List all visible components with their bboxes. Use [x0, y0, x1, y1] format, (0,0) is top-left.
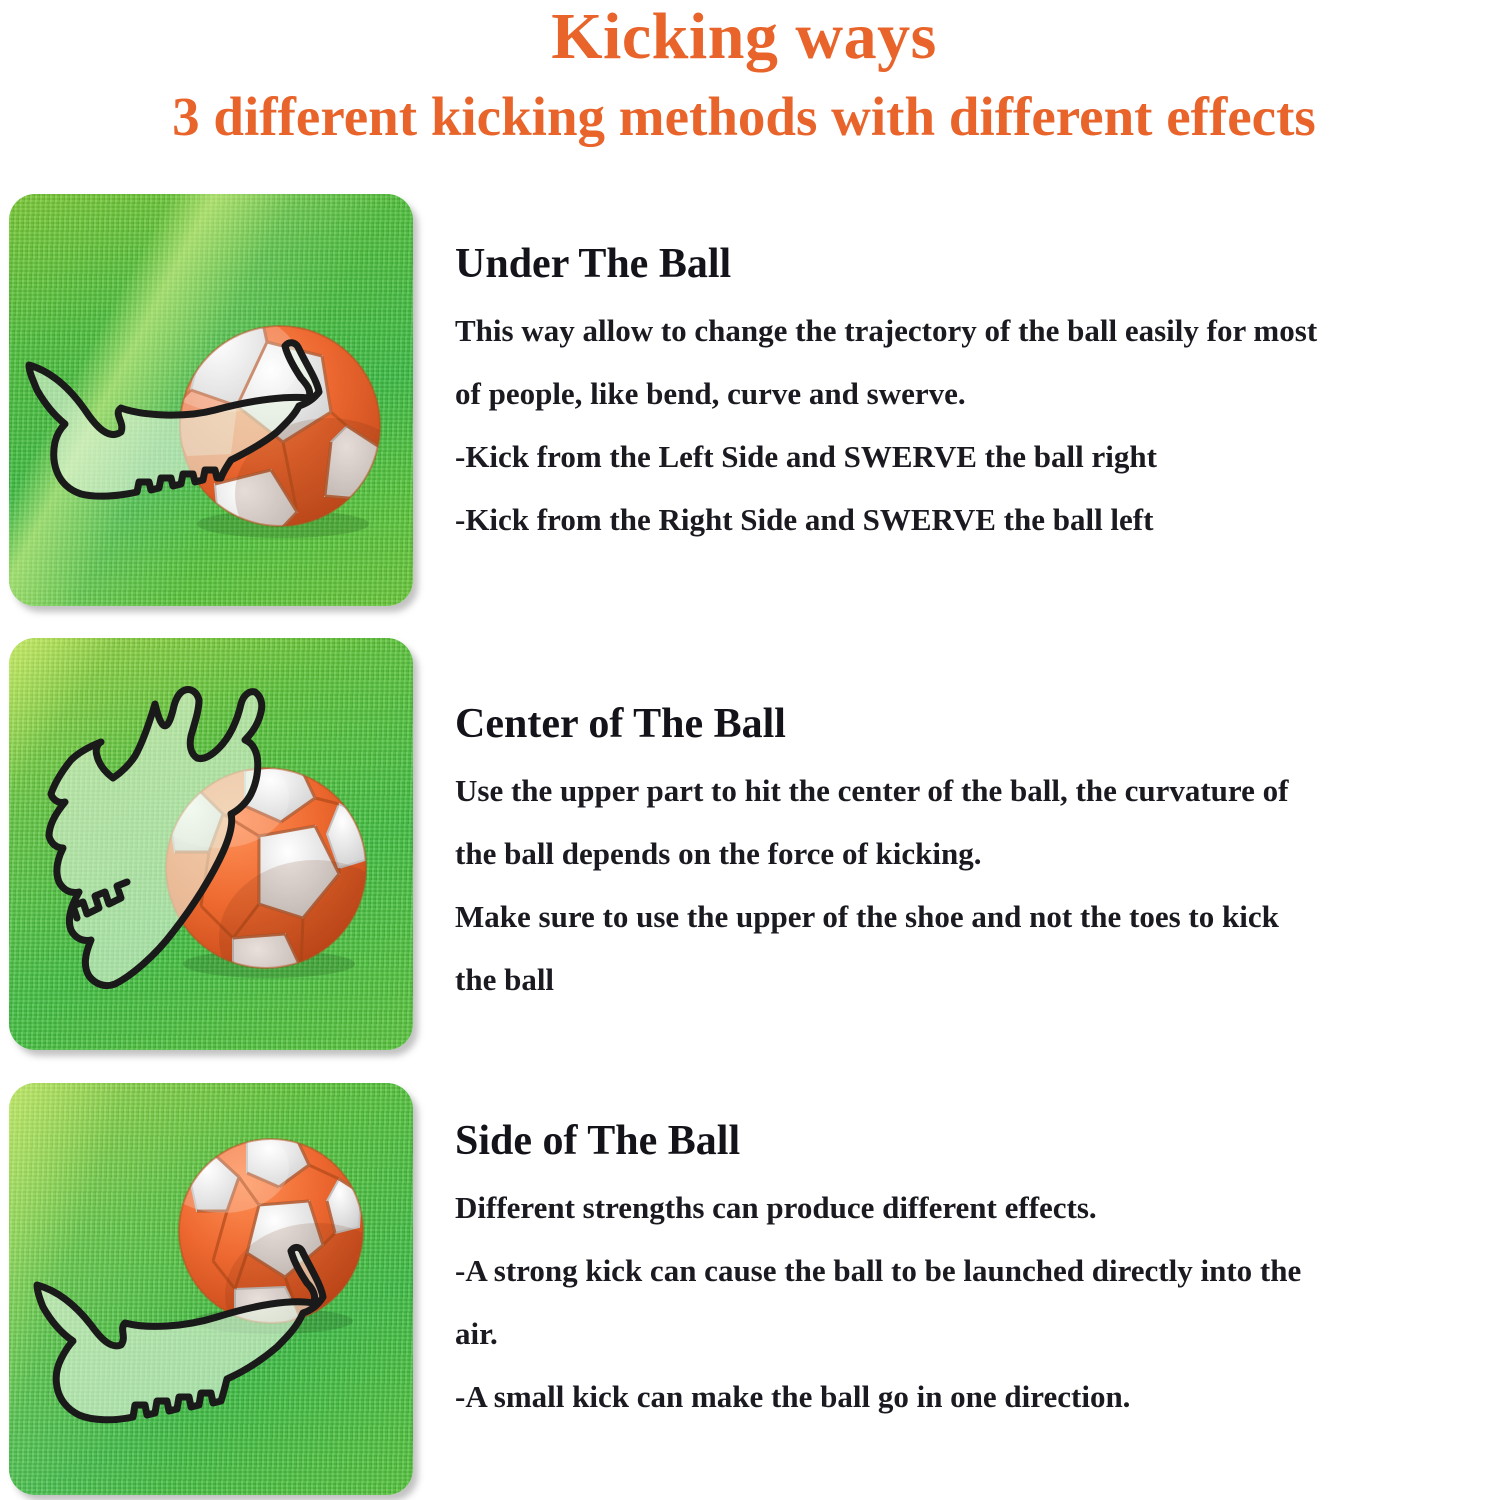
kick-diagram-center	[9, 638, 413, 1050]
text-block-center-of-the-ball: Center of The Ball Use the upper part to…	[455, 702, 1485, 1011]
section-heading: Center of The Ball	[455, 702, 1485, 747]
kick-diagram-under	[9, 194, 413, 606]
body-line: -A small kick can make the ball go in on…	[455, 1365, 1485, 1428]
illustration-side-of-the-ball	[9, 1083, 413, 1495]
body-line: of people, like bend, curve and swerve.	[455, 362, 1485, 425]
body-line: air.	[455, 1302, 1485, 1365]
section-body: This way allow to change the trajectory …	[455, 299, 1485, 551]
body-line: Different strengths can produce differen…	[455, 1176, 1485, 1239]
body-line: -A strong kick can cause the ball to be …	[455, 1239, 1485, 1302]
section-heading: Under The Ball	[455, 242, 1485, 287]
page-title: Kicking ways	[0, 2, 1488, 71]
body-line: Use the upper part to hit the center of …	[455, 759, 1485, 822]
section-heading: Side of The Ball	[455, 1119, 1485, 1164]
body-line: the ball depends on the force of kicking…	[455, 822, 1485, 885]
infographic-page: Kicking ways 3 different kicking methods…	[0, 0, 1488, 1500]
body-line: -Kick from the Left Side and SWERVE the …	[455, 425, 1485, 488]
text-block-under-the-ball: Under The Ball This way allow to change …	[455, 242, 1485, 551]
text-block-side-of-the-ball: Side of The Ball Different strengths can…	[455, 1119, 1485, 1428]
section-side-of-the-ball: Side of The Ball Different strengths can…	[0, 1079, 1488, 1497]
body-line: This way allow to change the trajectory …	[455, 299, 1485, 362]
body-line: Make sure to use the upper of the shoe a…	[455, 885, 1485, 948]
section-body: Use the upper part to hit the center of …	[455, 759, 1485, 1011]
illustration-under-the-ball	[9, 194, 413, 606]
section-center-of-the-ball: Center of The Ball Use the upper part to…	[0, 634, 1488, 1059]
illustration-center-of-the-ball	[9, 638, 413, 1050]
kick-diagram-side	[9, 1083, 413, 1495]
section-under-the-ball: Under The Ball This way allow to change …	[0, 190, 1488, 615]
body-line: the ball	[455, 948, 1485, 1011]
section-body: Different strengths can produce differen…	[455, 1176, 1485, 1428]
page-subtitle: 3 different kicking methods with differe…	[0, 88, 1488, 146]
body-line: -Kick from the Right Side and SWERVE the…	[455, 488, 1485, 551]
